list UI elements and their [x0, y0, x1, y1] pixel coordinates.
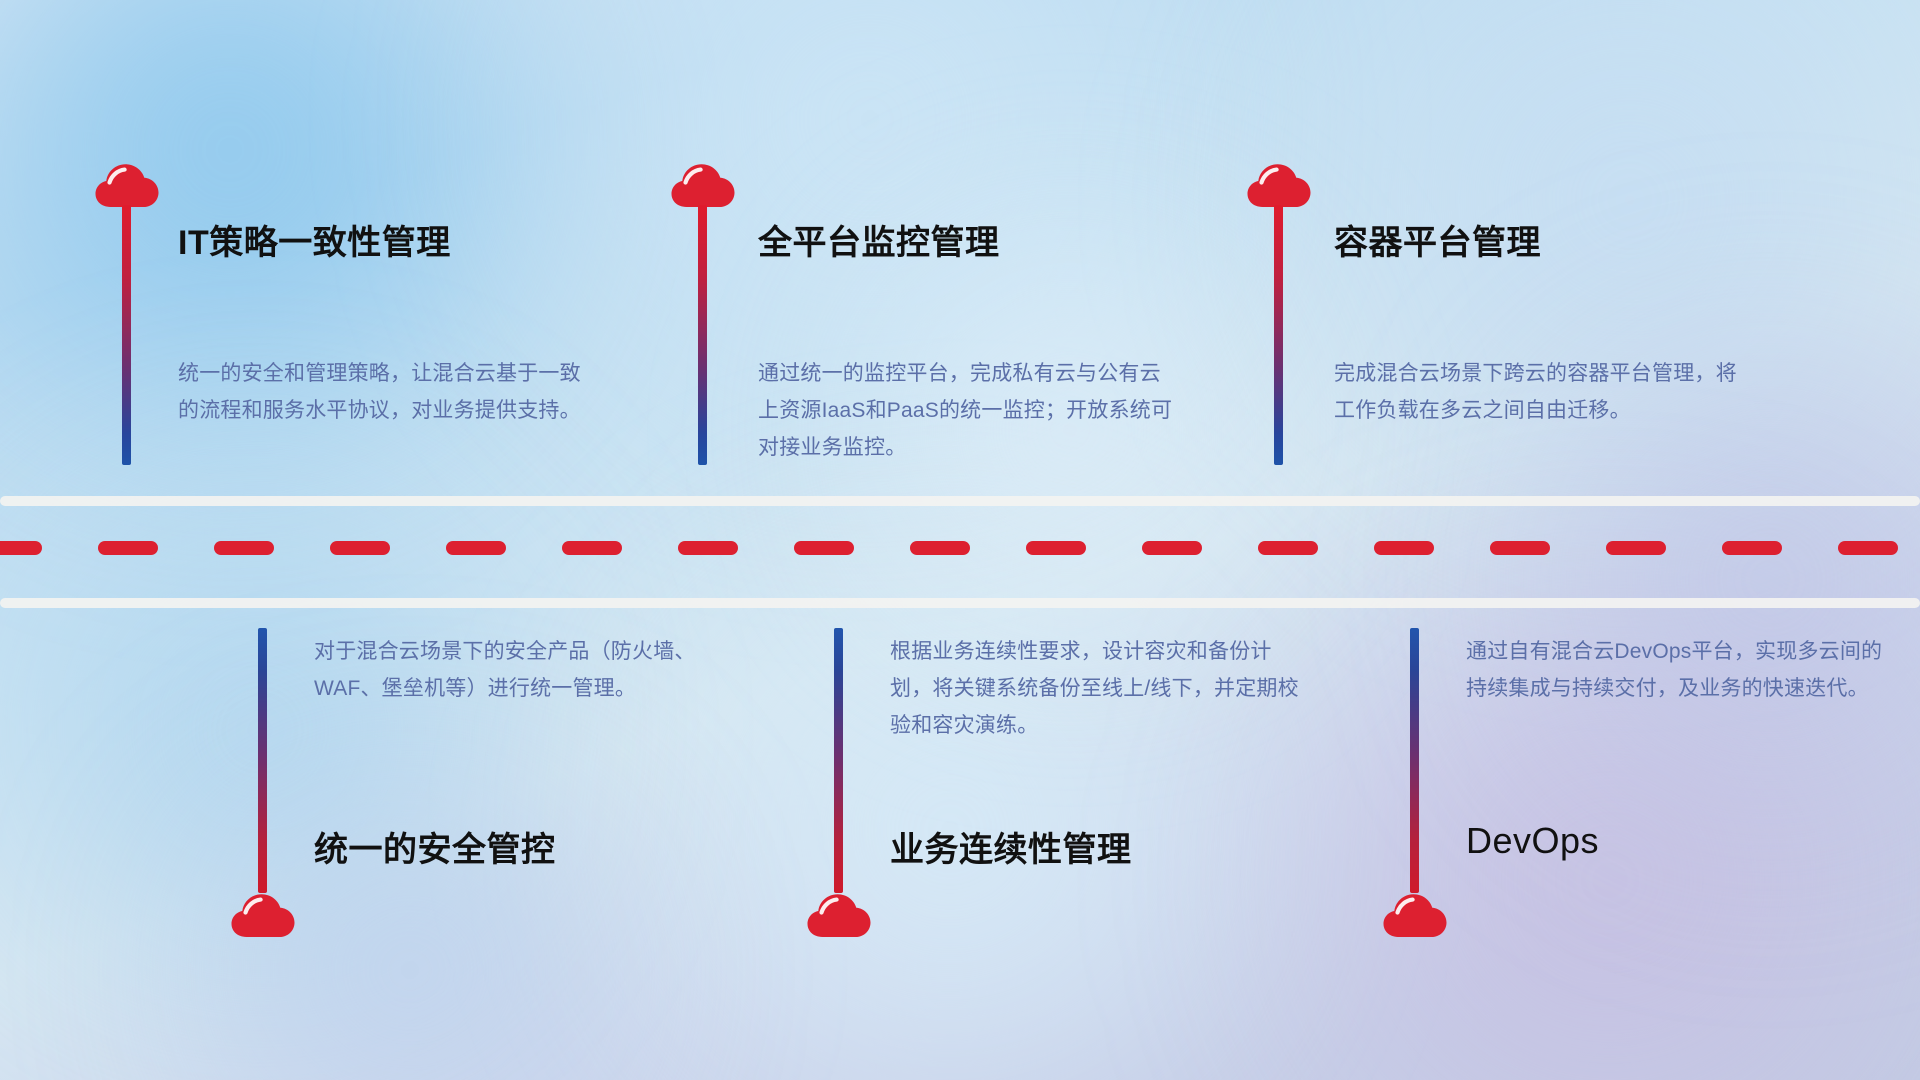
road-edge-bottom [0, 598, 1920, 608]
item-title: IT策略一致性管理 [178, 215, 451, 264]
connector-stem [1410, 628, 1419, 893]
road-dash-segment [562, 541, 622, 555]
item-title: 统一的安全管控 [314, 822, 556, 871]
item-title: 容器平台管理 [1334, 215, 1541, 264]
infographic-canvas: IT策略一致性管理 统一的安全和管理策略，让混合云基于一致的流程和服务水平协议，… [0, 0, 1920, 1080]
road-dash-segment [1026, 541, 1086, 555]
item-title: 全平台监控管理 [758, 215, 1000, 264]
road-dash-segment [1374, 541, 1434, 555]
item-body: 对于混合云场景下的安全产品（防火墙、WAF、堡垒机等）进行统一管理。 [314, 633, 734, 707]
cloud-icon [670, 160, 736, 210]
connector-stem [834, 628, 843, 893]
item-title: DevOps [1466, 820, 1599, 862]
connector-stem [1274, 205, 1283, 465]
road-center-dashes [0, 541, 1920, 555]
road-dash-segment [1490, 541, 1550, 555]
item-body: 通过自有混合云DevOps平台，实现多云间的持续集成与持续交付，及业务的快速迭代… [1466, 633, 1886, 707]
road-dash-segment [910, 541, 970, 555]
road-dash-segment [214, 541, 274, 555]
cloud-icon [230, 890, 296, 940]
road-dash-segment [1838, 541, 1898, 555]
road-edge-top [0, 496, 1920, 506]
connector-stem [258, 628, 267, 893]
connector-stem [698, 205, 707, 465]
item-body: 统一的安全和管理策略，让混合云基于一致的流程和服务水平协议，对业务提供支持。 [178, 355, 598, 429]
item-body: 根据业务连续性要求，设计容灾和备份计划，将关键系统备份至线上/线下，并定期校验和… [890, 633, 1310, 744]
item-body: 完成混合云场景下跨云的容器平台管理，将工作负载在多云之间自由迁移。 [1334, 355, 1754, 429]
cloud-icon [1382, 890, 1448, 940]
cloud-icon [94, 160, 160, 210]
item-title: 业务连续性管理 [890, 822, 1132, 871]
road-dash-segment [1606, 541, 1666, 555]
road-dash-segment [0, 541, 42, 555]
item-body: 通过统一的监控平台，完成私有云与公有云上资源IaaS和PaaS的统一监控；开放系… [758, 355, 1178, 466]
road-dash-segment [1258, 541, 1318, 555]
road-dash-segment [446, 541, 506, 555]
cloud-icon [806, 890, 872, 940]
road-dash-segment [330, 541, 390, 555]
road-dash-segment [794, 541, 854, 555]
road-dash-segment [98, 541, 158, 555]
road-dash-segment [678, 541, 738, 555]
cloud-icon [1246, 160, 1312, 210]
road-dash-segment [1722, 541, 1782, 555]
road-dash-segment [1142, 541, 1202, 555]
connector-stem [122, 205, 131, 465]
